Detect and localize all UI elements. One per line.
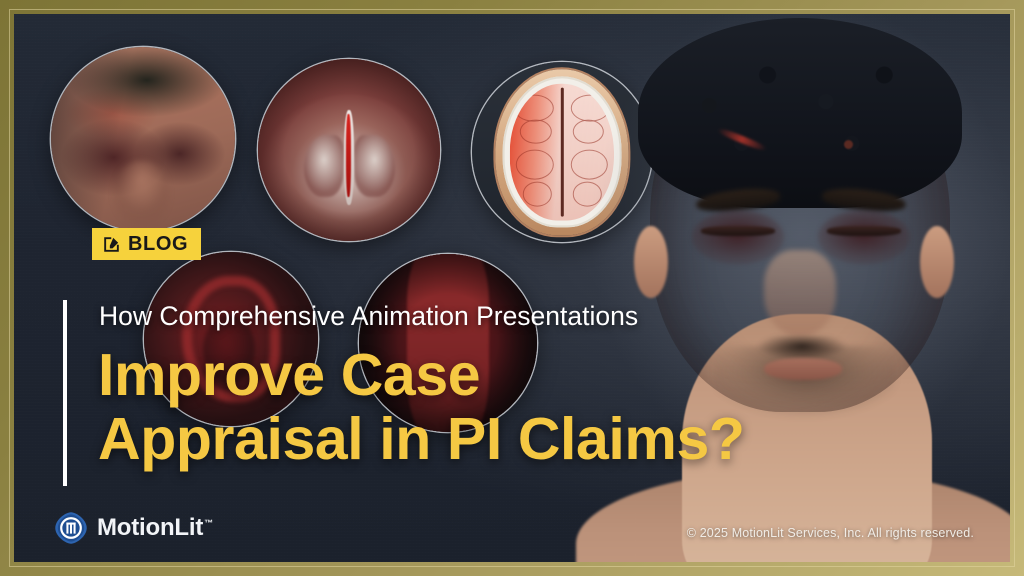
headline-line-1: Improve Case — [98, 344, 858, 408]
motionlit-logo[interactable]: MotionLit™ — [54, 511, 213, 545]
portrait-eyelid-right — [827, 226, 901, 236]
banner-stage: BLOG How Comprehensive Animation Present… — [14, 14, 1010, 562]
injured-man-portrait — [586, 14, 1010, 562]
title-accent-rule — [63, 300, 67, 486]
portrait-nose — [764, 250, 836, 336]
bruised-face-thumbnail — [51, 47, 235, 231]
vignette-overlay — [258, 59, 440, 241]
trademark-symbol: ™ — [204, 518, 213, 528]
portrait-ear-right — [920, 226, 954, 298]
face-shadow-overlay — [51, 47, 235, 231]
blog-badge-label: BLOG — [128, 234, 188, 254]
banner-kicker: How Comprehensive Animation Presentation… — [99, 301, 759, 333]
portrait-hair — [638, 18, 962, 208]
motionlit-wordmark-text: MotionLit — [97, 514, 203, 541]
forehead-mole — [844, 140, 853, 149]
nasal-septum-thumbnail — [258, 59, 440, 241]
blog-banner: BLOG How Comprehensive Animation Present… — [0, 0, 1024, 576]
headline-line-2: Appraisal in PI Claims? — [98, 408, 858, 472]
motionlit-logo-mark — [54, 511, 88, 545]
portrait-eyelid-left — [701, 226, 775, 236]
portrait-black-eye-right — [818, 210, 910, 264]
copyright-notice: © 2025 MotionLit Services, Inc. All righ… — [687, 526, 974, 540]
blog-badge[interactable]: BLOG — [92, 228, 201, 260]
edit-square-icon — [102, 235, 121, 254]
longitudinal-fissure — [561, 88, 564, 217]
portrait-ear-left — [634, 226, 668, 298]
portrait-black-eye-left — [692, 210, 784, 264]
banner-headline: Improve Case Appraisal in PI Claims? — [98, 344, 858, 471]
motionlit-wordmark: MotionLit™ — [97, 516, 213, 540]
